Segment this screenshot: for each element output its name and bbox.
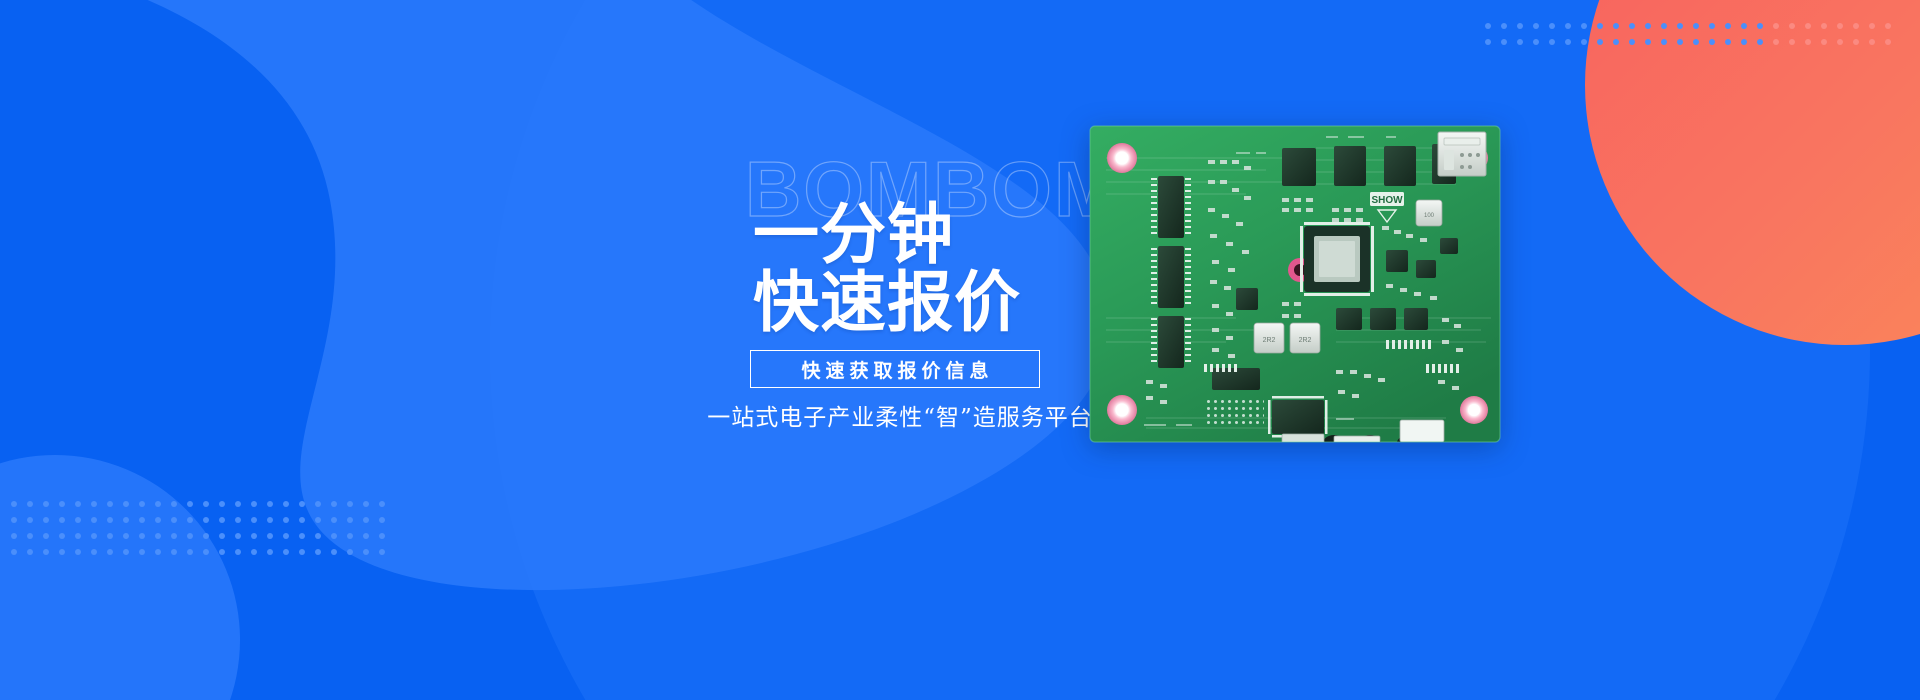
grid-dot xyxy=(235,517,241,523)
grid-dot xyxy=(59,501,65,507)
grid-dot xyxy=(1725,23,1731,29)
grid-dot xyxy=(43,533,49,539)
grid-dot xyxy=(1597,23,1603,29)
grid-dot xyxy=(315,517,321,523)
grid-dot xyxy=(1501,23,1507,29)
grid-dot xyxy=(1533,39,1539,45)
grid-dot xyxy=(43,517,49,523)
dot-grid-bottom-left xyxy=(8,498,408,570)
grid-dot xyxy=(1517,23,1523,29)
grid-dot xyxy=(251,549,257,555)
tagline-text: 一站式电子产业柔性“智”造服务平台 xyxy=(685,398,1115,432)
grid-dot xyxy=(155,549,161,555)
grid-dot xyxy=(315,533,321,539)
grid-dot xyxy=(123,533,129,539)
grid-dot xyxy=(251,517,257,523)
grid-dot xyxy=(299,501,305,507)
grid-dot xyxy=(299,517,305,523)
headline-line-2: 快速报价 xyxy=(753,270,1021,336)
grid-dot xyxy=(1741,23,1747,29)
grid-dot xyxy=(1565,23,1571,29)
grid-dot xyxy=(203,501,209,507)
grid-dot xyxy=(203,533,209,539)
grid-dot xyxy=(235,549,241,555)
grid-dot xyxy=(75,533,81,539)
grid-dot xyxy=(347,517,353,523)
grid-dot xyxy=(139,517,145,523)
grid-dot xyxy=(1517,39,1523,45)
grid-dot xyxy=(75,517,81,523)
grid-dot xyxy=(171,549,177,555)
grid-dot xyxy=(27,517,33,523)
grid-dot xyxy=(123,501,129,507)
grid-dot xyxy=(1773,23,1779,29)
grid-dot xyxy=(267,549,273,555)
grid-dot xyxy=(43,549,49,555)
grid-dot xyxy=(235,533,241,539)
grid-dot xyxy=(1853,23,1859,29)
grid-dot xyxy=(107,533,113,539)
grid-dot xyxy=(1549,23,1555,29)
grid-dot xyxy=(59,549,65,555)
grid-dot xyxy=(11,501,17,507)
grid-dot xyxy=(251,533,257,539)
grid-dot xyxy=(1805,23,1811,29)
grid-dot xyxy=(1837,23,1843,29)
grid-dot xyxy=(267,533,273,539)
grid-dot xyxy=(203,517,209,523)
grid-dot xyxy=(1661,23,1667,29)
grid-dot xyxy=(11,533,17,539)
grid-dot xyxy=(379,533,385,539)
pcb-illustration: 2R2 2R2 100 xyxy=(1086,118,1506,458)
svg-text:100: 100 xyxy=(1424,213,1435,219)
grid-dot xyxy=(171,501,177,507)
grid-dot xyxy=(1661,39,1667,45)
grid-dot xyxy=(1885,39,1891,45)
grid-dot xyxy=(187,501,193,507)
grid-dot xyxy=(1805,39,1811,45)
grid-dot xyxy=(219,501,225,507)
grid-dot xyxy=(363,517,369,523)
pcb-main-processor xyxy=(1300,222,1374,296)
dot-grid-top-right xyxy=(1482,20,1912,60)
grid-dot xyxy=(379,501,385,507)
grid-dot xyxy=(1837,39,1843,45)
promo-banner: BOMBOM 一分钟 快速报价 快速获取报价信息 一站式电子产业柔性“智”造服务… xyxy=(0,0,1920,700)
grid-dot xyxy=(1885,23,1891,29)
grid-dot xyxy=(107,501,113,507)
grid-dot xyxy=(1629,39,1635,45)
grid-dot xyxy=(27,549,33,555)
grid-dot xyxy=(299,549,305,555)
grid-dot xyxy=(1629,23,1635,29)
grid-dot xyxy=(379,549,385,555)
grid-dot xyxy=(331,549,337,555)
pcb-bga-pad-array xyxy=(1206,400,1264,426)
grid-dot xyxy=(1741,39,1747,45)
grid-dot xyxy=(155,501,161,507)
grid-dot xyxy=(91,517,97,523)
grid-dot xyxy=(91,533,97,539)
grid-dot xyxy=(59,517,65,523)
grid-dot xyxy=(187,517,193,523)
grid-dot xyxy=(139,533,145,539)
grid-dot xyxy=(27,501,33,507)
grid-dot xyxy=(1485,23,1491,29)
grid-dot xyxy=(363,549,369,555)
grid-dot xyxy=(1549,39,1555,45)
grid-dot xyxy=(1581,39,1587,45)
grid-dot xyxy=(347,501,353,507)
grid-dot xyxy=(139,501,145,507)
grid-dot xyxy=(363,501,369,507)
grid-dot xyxy=(187,549,193,555)
headline-line-1: 一分钟 xyxy=(753,202,954,268)
grid-dot xyxy=(267,517,273,523)
grid-dot xyxy=(75,501,81,507)
grid-dot xyxy=(171,533,177,539)
grid-dot xyxy=(1613,23,1619,29)
grid-dot xyxy=(1645,23,1651,29)
grid-dot xyxy=(219,549,225,555)
grid-dot xyxy=(251,501,257,507)
grid-dot xyxy=(1869,39,1875,45)
grid-dot xyxy=(11,517,17,523)
grid-dot xyxy=(91,549,97,555)
grid-dot xyxy=(1709,23,1715,29)
grid-dot xyxy=(379,517,385,523)
grid-dot xyxy=(187,533,193,539)
grid-dot xyxy=(1613,39,1619,45)
grid-dot xyxy=(235,501,241,507)
grid-dot xyxy=(203,549,209,555)
pcb-card-slot-connector xyxy=(1438,132,1486,176)
grid-dot xyxy=(1789,23,1795,29)
svg-text:2R2: 2R2 xyxy=(1263,337,1276,344)
grid-dot xyxy=(1677,39,1683,45)
grid-dot xyxy=(59,533,65,539)
grid-dot xyxy=(43,501,49,507)
grid-dot xyxy=(347,533,353,539)
headline-group: BOMBOM 一分钟 快速报价 快速获取报价信息 一站式电子产业柔性“智”造服务… xyxy=(690,150,1110,430)
grid-dot xyxy=(1693,23,1699,29)
grid-dot xyxy=(1533,23,1539,29)
grid-dot xyxy=(171,517,177,523)
svg-text:SHOW: SHOW xyxy=(1371,195,1403,206)
grid-dot xyxy=(299,533,305,539)
grid-dot xyxy=(331,501,337,507)
grid-dot xyxy=(123,549,129,555)
grid-dot xyxy=(155,517,161,523)
grid-dot xyxy=(1645,39,1651,45)
grid-dot xyxy=(107,517,113,523)
grid-dot xyxy=(1869,23,1875,29)
grid-dot xyxy=(283,501,289,507)
grid-dot xyxy=(283,533,289,539)
grid-dot xyxy=(1773,39,1779,45)
grid-dot xyxy=(155,533,161,539)
grid-dot xyxy=(1725,39,1731,45)
grid-dot xyxy=(1693,39,1699,45)
grid-dot xyxy=(75,549,81,555)
grid-dot xyxy=(139,549,145,555)
grid-dot xyxy=(283,549,289,555)
grid-dot xyxy=(1485,39,1491,45)
cta-button[interactable]: 快速获取报价信息 xyxy=(750,350,1040,388)
grid-dot xyxy=(1789,39,1795,45)
grid-dot xyxy=(11,549,17,555)
grid-dot xyxy=(1709,39,1715,45)
grid-dot xyxy=(219,533,225,539)
grid-dot xyxy=(1821,39,1827,45)
grid-dot xyxy=(107,549,113,555)
grid-dot xyxy=(283,517,289,523)
grid-dot xyxy=(331,533,337,539)
grid-dot xyxy=(267,501,273,507)
grid-dot xyxy=(331,517,337,523)
grid-dot xyxy=(27,533,33,539)
grid-dot xyxy=(1757,23,1763,29)
grid-dot xyxy=(1677,23,1683,29)
grid-dot xyxy=(91,501,97,507)
grid-dot xyxy=(315,549,321,555)
grid-dot xyxy=(123,517,129,523)
grid-dot xyxy=(1581,23,1587,29)
grid-dot xyxy=(219,517,225,523)
grid-dot xyxy=(1565,39,1571,45)
pcb-circuit-board: 2R2 2R2 100 xyxy=(1086,118,1506,458)
grid-dot xyxy=(347,549,353,555)
grid-dot xyxy=(1821,23,1827,29)
cta-label: 快速获取报价信息 xyxy=(796,356,993,383)
grid-dot xyxy=(363,533,369,539)
grid-dot xyxy=(1757,39,1763,45)
grid-dot xyxy=(1597,39,1603,45)
grid-dot xyxy=(1501,39,1507,45)
grid-dot xyxy=(315,501,321,507)
grid-dot xyxy=(1853,39,1859,45)
svg-text:2R2: 2R2 xyxy=(1299,337,1312,344)
